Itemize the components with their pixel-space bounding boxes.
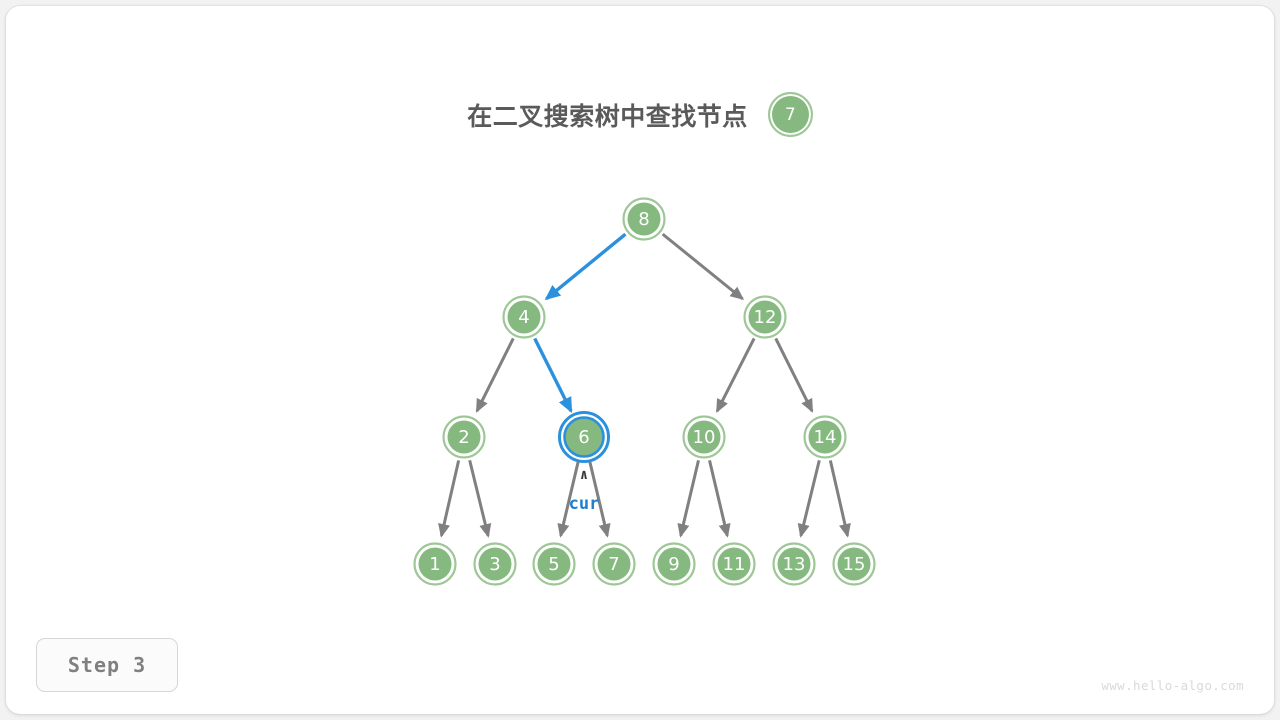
node-value: 2 — [458, 427, 469, 448]
tree-node: 4 — [504, 297, 545, 338]
pointer-label: cur — [569, 494, 600, 514]
node-value: 8 — [638, 209, 649, 230]
binary-search-tree-diagram: 841226101413579111315 ∧cur — [6, 6, 1274, 714]
tree-node: 9 — [654, 544, 695, 585]
tree-edge — [470, 460, 488, 536]
tree-node: 15 — [834, 544, 875, 585]
tree-node: 10 — [684, 417, 725, 458]
tree-node: 13 — [774, 544, 815, 585]
tree-node: 2 — [444, 417, 485, 458]
tree-edge — [776, 338, 812, 411]
node-value: 7 — [608, 554, 619, 575]
footer-url: www.hello-algo.com — [1101, 678, 1244, 693]
node-value: 4 — [518, 307, 529, 328]
tree-node: 14 — [805, 417, 846, 458]
node-value: 13 — [783, 554, 806, 575]
tree-edge — [717, 338, 754, 411]
node-value: 5 — [548, 554, 559, 575]
tree-node: 11 — [714, 544, 755, 585]
node-value: 10 — [693, 427, 716, 448]
tree-node: 5 — [534, 544, 575, 585]
node-value: 6 — [578, 427, 589, 448]
tree-nodes: 841226101413579111315 — [415, 199, 875, 585]
pointer-caret-icon: ∧ — [580, 467, 588, 483]
tree-node: 6 — [560, 413, 609, 462]
tree-edges — [441, 234, 847, 536]
tree-edge — [441, 460, 458, 535]
step-indicator: Step 3 — [36, 638, 178, 692]
tree-node: 12 — [745, 297, 786, 338]
node-value: 14 — [814, 427, 837, 448]
node-value: 3 — [489, 554, 500, 575]
tree-node: 3 — [475, 544, 516, 585]
tree-edge — [710, 460, 728, 535]
node-value: 9 — [668, 554, 679, 575]
tree-edge — [477, 338, 513, 411]
tree-edge — [801, 460, 819, 536]
tree-node: 1 — [415, 544, 456, 585]
tree-node: 8 — [624, 199, 665, 240]
tree-edge — [663, 234, 743, 299]
tree-edge — [535, 338, 571, 411]
node-value: 15 — [843, 554, 866, 575]
node-value: 12 — [754, 307, 777, 328]
screenshot-root: 在二叉搜索树中查找节点 7 841226101413579111315 ∧cur… — [0, 0, 1280, 720]
step-label: Step 3 — [68, 653, 146, 677]
node-value: 1 — [429, 554, 440, 575]
tree-edge — [830, 460, 847, 535]
diagram-card: 在二叉搜索树中查找节点 7 841226101413579111315 ∧cur… — [6, 6, 1274, 714]
node-value: 11 — [723, 554, 746, 575]
pointer-marker: ∧cur — [569, 467, 600, 514]
tree-node: 7 — [594, 544, 635, 585]
tree-edge — [681, 460, 699, 535]
tree-pointers: ∧cur — [569, 467, 600, 514]
tree-edge — [546, 234, 625, 298]
